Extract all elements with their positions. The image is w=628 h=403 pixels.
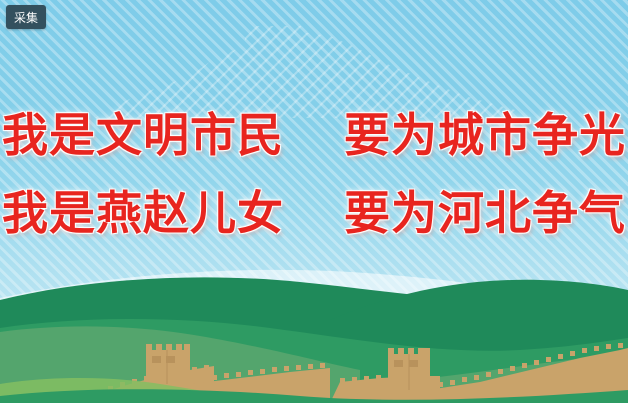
poster-screenshot-canvas: 我是文明市民 要为城市争光 我是燕赵儿女 要为河北争气 采集 (0, 0, 628, 403)
landscape-illustration (0, 258, 628, 403)
capture-button[interactable]: 采集 (6, 5, 46, 29)
